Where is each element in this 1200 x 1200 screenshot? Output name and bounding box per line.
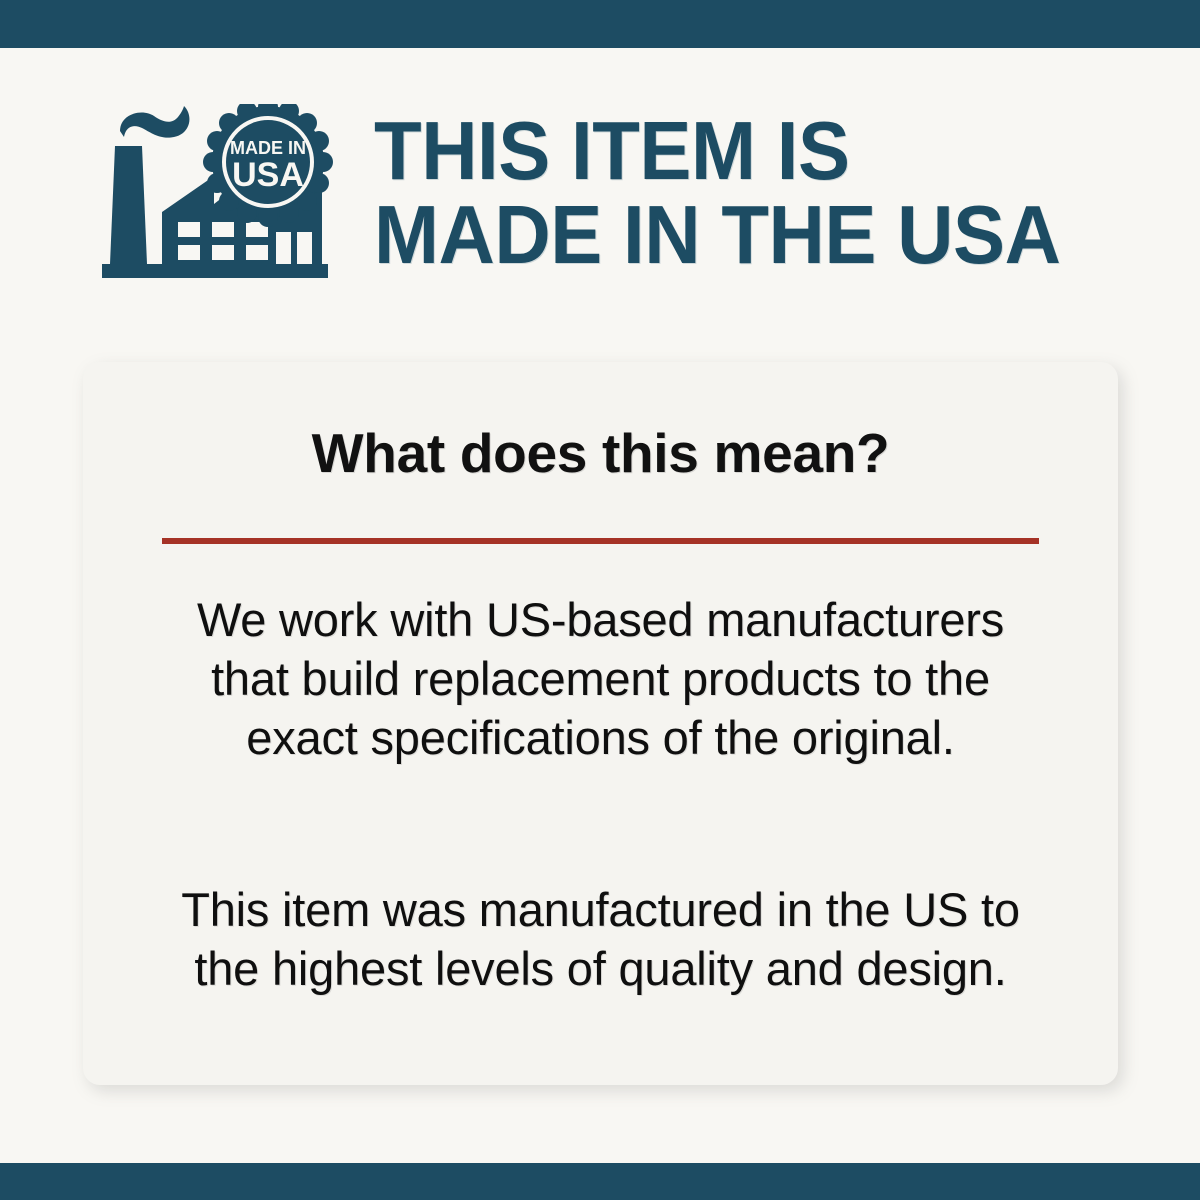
badge-line-1-text: MADE IN — [230, 138, 306, 158]
card-paragraph-2: This item was manufactured in the US to … — [147, 880, 1054, 998]
explanation-card: What does this mean? We work with US-bas… — [83, 362, 1118, 1085]
headline-line-2: MADE IN THE USA — [374, 193, 1060, 277]
red-divider — [162, 538, 1039, 544]
top-accent-bar — [0, 0, 1200, 48]
card-title: What does this mean? — [83, 424, 1118, 482]
factory-icon: MADE IN USA — [98, 104, 336, 282]
page-canvas: MADE IN USA THIS ITEM IS MADE IN THE USA… — [0, 48, 1200, 1163]
card-paragraph-1: We work with US-based manufacturers that… — [147, 590, 1054, 767]
made-in-usa-badge: MADE IN USA — [203, 104, 333, 227]
header: MADE IN USA THIS ITEM IS MADE IN THE USA — [98, 100, 1158, 285]
headline-line-1: THIS ITEM IS — [374, 109, 1060, 193]
badge-line-2-text: USA — [232, 156, 304, 194]
page-title: THIS ITEM IS MADE IN THE USA — [374, 109, 1104, 277]
bottom-accent-bar — [0, 1163, 1200, 1200]
